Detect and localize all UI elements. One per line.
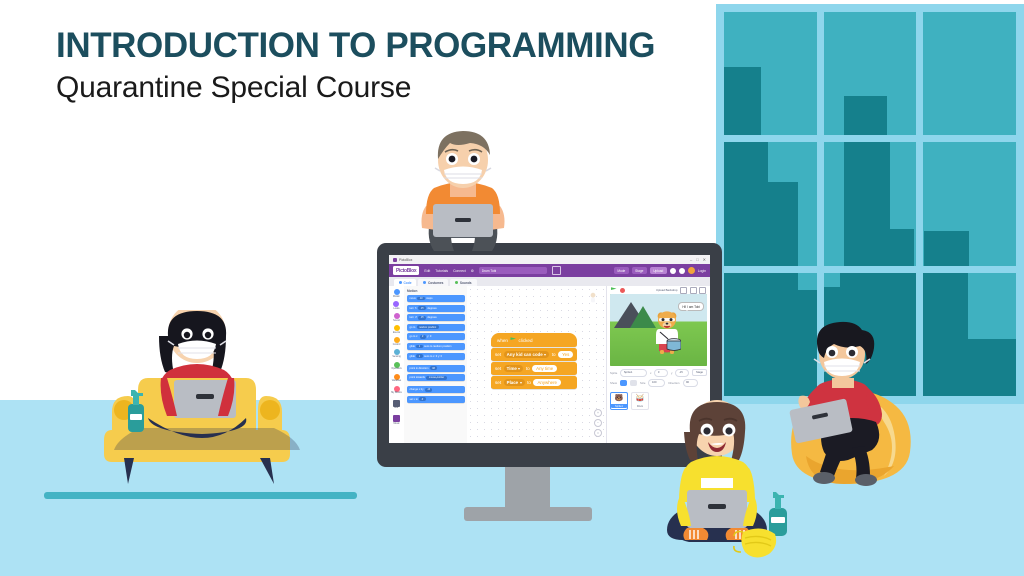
- ide-toolbar: PictoBlox Edit Tutorials Connect ⚙ Drum …: [389, 264, 710, 277]
- mode-button[interactable]: Mode: [614, 267, 629, 274]
- category-label: Sound: [393, 320, 400, 322]
- code-icon: [399, 281, 402, 284]
- green-flag-icon: [510, 337, 516, 343]
- block-pill[interactable]: 10: [417, 297, 424, 301]
- block-pill[interactable]: 0: [419, 397, 425, 401]
- block-pill[interactable]: 0: [420, 335, 426, 339]
- block-tail: steps: [426, 297, 432, 300]
- variable-name: Time: [507, 366, 517, 371]
- large-stage-icon[interactable]: [690, 287, 697, 294]
- window-pane: [923, 142, 1016, 265]
- category-events[interactable]: Events: [393, 325, 400, 334]
- script-stack[interactable]: when clicked set Any kid can code to Yes: [491, 333, 577, 390]
- value-input[interactable]: Any time: [532, 365, 557, 372]
- block-text: set x to: [410, 398, 418, 401]
- maximize-button[interactable]: □: [696, 258, 698, 262]
- category-label: Variables: [392, 380, 401, 382]
- tab-sounds[interactable]: Sounds: [450, 279, 476, 286]
- palette-block[interactable]: go torandom position: [407, 324, 465, 331]
- operators-icon: [394, 362, 400, 368]
- value-input[interactable]: Anywhere: [533, 379, 561, 386]
- small-stage-icon[interactable]: [680, 287, 687, 294]
- page-title: INTRODUCTION TO PROGRAMMING: [56, 26, 655, 65]
- new-project-icon[interactable]: [552, 266, 561, 275]
- music-icon: [393, 415, 400, 422]
- block-tail: secs to random position: [424, 345, 451, 348]
- watermark-sprite-icon: [589, 292, 597, 304]
- window-pane: [724, 142, 817, 265]
- sprite-info-panel: Sprite Sprite1 x 0 y -15 Stage Show: [610, 369, 707, 389]
- category-label: Add·: [394, 407, 399, 409]
- avatar[interactable]: [688, 267, 695, 274]
- category-motion[interactable]: Motion: [393, 289, 400, 298]
- set-variable-block[interactable]: set Place to Anywhere: [491, 376, 577, 389]
- pictoblox-logo[interactable]: PictoBlox: [393, 266, 419, 274]
- palette-block[interactable]: point in direction90: [407, 365, 465, 372]
- motion-icon: [394, 289, 400, 295]
- block-pill[interactable]: random position: [417, 325, 439, 329]
- set-variable-block[interactable]: set Time to Any time: [491, 362, 577, 375]
- category-addon[interactable]: Add·: [393, 398, 400, 410]
- value-input[interactable]: Yes: [558, 351, 573, 358]
- sound-icon: [394, 313, 400, 319]
- tobi-sprite[interactable]: [653, 308, 681, 354]
- palette-block[interactable]: move10steps: [407, 295, 465, 302]
- zoom-out-icon[interactable]: −: [594, 419, 602, 427]
- block-tail: secs to x: 0 y: 0: [424, 355, 442, 358]
- girl-on-sofa: [52, 310, 342, 500]
- my-blocks-icon: [394, 386, 400, 392]
- poster-canvas: INTRODUCTION TO PROGRAMMING Quarantine S…: [0, 0, 1024, 576]
- variable-dropdown[interactable]: Place: [504, 379, 525, 386]
- block-text: turn ↻: [410, 307, 417, 310]
- project-name-input[interactable]: Drum Tobi: [479, 267, 547, 274]
- tab-code[interactable]: Code: [394, 279, 416, 286]
- block-pill[interactable]: 15: [418, 316, 425, 320]
- control-icon: [394, 337, 400, 343]
- category-label: Events: [393, 332, 400, 334]
- block-connector: to: [527, 380, 531, 385]
- show-label: Show: [610, 381, 617, 385]
- block-text: point towards: [410, 376, 425, 379]
- menu-connect[interactable]: Connect: [453, 269, 466, 273]
- block-tail: y: 0: [427, 335, 431, 338]
- block-text: turn ↺: [410, 316, 417, 319]
- green-flag-icon[interactable]: [611, 287, 617, 293]
- sensing-icon: [394, 349, 400, 355]
- addon-icon: [393, 400, 400, 407]
- chevron-down-icon: [518, 368, 520, 370]
- window-pane: [824, 12, 917, 135]
- y-input[interactable]: -15: [675, 369, 689, 377]
- stage-selector-button[interactable]: Stage: [692, 369, 707, 376]
- block-tail: clicked: [518, 338, 532, 343]
- boy-on-beanbag: [780, 316, 925, 491]
- window-pane: [824, 142, 917, 265]
- minimize-button[interactable]: –: [690, 258, 692, 262]
- speech-bubble: Hi! I am Tobi: [678, 302, 704, 311]
- category-label: Motion: [393, 296, 400, 298]
- tab-sounds-label: Sounds: [460, 281, 472, 285]
- tab-code-label: Code: [404, 281, 412, 285]
- sprite-name-input[interactable]: Sprite1: [620, 369, 647, 377]
- gear-icon[interactable]: [670, 268, 676, 274]
- block-pill[interactable]: 1: [416, 345, 422, 349]
- block-pill[interactable]: 15: [418, 306, 425, 310]
- block-text: go to: [410, 326, 416, 329]
- monitor-neck: [505, 467, 550, 507]
- block-keyword: set: [495, 352, 501, 357]
- palette-heading: Motion: [407, 289, 465, 293]
- fullscreen-icon[interactable]: [699, 287, 706, 294]
- tab-costumes-label: Costumes: [428, 281, 443, 285]
- size-label: Size: [640, 381, 645, 385]
- category-sound[interactable]: Sound: [393, 313, 400, 322]
- block-text: move: [410, 297, 416, 300]
- sprite-card-label: Drum: [632, 404, 648, 408]
- events-icon: [394, 325, 400, 331]
- sprite-thumbnail-icon: 🐻: [611, 393, 627, 404]
- block-text: glide: [410, 345, 415, 348]
- category-looks[interactable]: Looks: [393, 301, 399, 310]
- stage-preview[interactable]: Hi! I am Tobi: [610, 294, 707, 366]
- block-tail: degrees: [427, 316, 436, 319]
- sprite-card-tobi[interactable]: 🐻 Sprite1: [610, 392, 628, 410]
- stop-icon[interactable]: [620, 288, 625, 293]
- variable-name: Any kid can code: [507, 352, 543, 357]
- face-mask-floor: [733, 524, 781, 558]
- category-label: Sensing: [392, 356, 400, 358]
- block-keyword: set: [495, 366, 501, 371]
- ide-tabs: Code Costumes Sounds: [389, 277, 710, 286]
- variable-dropdown[interactable]: Any kid can code: [504, 351, 550, 358]
- variables-icon: [394, 374, 400, 380]
- sprite-label: Sprite: [610, 371, 617, 375]
- block-text: glide: [410, 355, 415, 358]
- close-button[interactable]: ✕: [703, 258, 706, 262]
- costumes-icon: [423, 281, 426, 284]
- boy-on-monitor: [400, 126, 526, 256]
- drum-thumbnail-icon: 🥁: [632, 393, 648, 404]
- chevron-down-icon: [544, 354, 546, 356]
- palette-block[interactable]: glide1secs to random position: [407, 343, 465, 350]
- category-label: Looks: [393, 308, 399, 310]
- x-label: x: [650, 371, 651, 375]
- window-pane: [923, 12, 1016, 135]
- connect-icon[interactable]: ⚙: [471, 269, 474, 273]
- block-text: point in direction: [410, 367, 429, 370]
- category-label: Operators: [391, 368, 401, 370]
- category-my-blocks[interactable]: My Blocks: [391, 386, 401, 395]
- size-input[interactable]: 100: [648, 379, 665, 387]
- app-name: PictoBlox: [399, 258, 412, 262]
- category-music[interactable]: Music: [393, 413, 400, 425]
- zoom-in-icon[interactable]: +: [594, 409, 602, 417]
- category-label: Control: [393, 344, 400, 346]
- when-flag-clicked-block[interactable]: when clicked: [491, 333, 577, 347]
- category-label: My Blocks: [391, 392, 401, 394]
- direction-label: Direction: [668, 381, 679, 385]
- palette-block[interactable]: set x to0: [407, 396, 465, 403]
- script-canvas[interactable]: when clicked set Any kid can code to Yes: [467, 286, 606, 443]
- block-pill[interactable]: mouse-pointer: [426, 376, 446, 380]
- set-variable-block[interactable]: set Any kid can code to Yes: [491, 348, 577, 361]
- block-text: change x by: [410, 388, 424, 391]
- block-text: go to x:: [410, 335, 419, 338]
- sprite-card-label: Sprite1: [611, 404, 627, 408]
- sprite-card-drum[interactable]: 🥁 Drum: [631, 392, 649, 410]
- palette-block[interactable]: change x by10: [407, 386, 465, 393]
- show-off-toggle[interactable]: [630, 380, 637, 386]
- block-tail: degrees: [427, 307, 436, 310]
- login-label[interactable]: Login: [698, 269, 706, 273]
- upload-button[interactable]: Upload: [650, 267, 667, 274]
- menu-edit[interactable]: Edit: [424, 269, 430, 273]
- block-pill[interactable]: 1: [416, 354, 422, 358]
- sounds-icon: [455, 281, 458, 284]
- globe-icon[interactable]: [679, 268, 685, 274]
- app-logo-icon: [393, 258, 397, 262]
- ide-titlebar: PictoBlox – □ ✕: [389, 255, 710, 264]
- block-keyword: when: [497, 338, 508, 343]
- palette-block[interactable]: glide1secs to x: 0 y: 0: [407, 353, 465, 360]
- monitor-base: [464, 507, 592, 521]
- palette-block[interactable]: point towardsmouse-pointer: [407, 374, 465, 381]
- stage-button[interactable]: Stage: [632, 267, 647, 274]
- upload-backdrop-label[interactable]: Upload Backdrop: [656, 288, 677, 292]
- direction-input[interactable]: 90: [683, 379, 698, 387]
- variable-dropdown[interactable]: Time: [504, 365, 524, 372]
- category-column: Motion Looks Sound Events Control Sensin…: [389, 286, 404, 443]
- block-palette[interactable]: Motion move10steps turn ↻15degrees turn …: [404, 286, 467, 443]
- palette-block[interactable]: turn ↺15degrees: [407, 314, 465, 321]
- page-subtitle: Quarantine Special Course: [56, 71, 655, 105]
- variable-name: Place: [507, 380, 518, 385]
- window-pane: [724, 12, 817, 135]
- block-keyword: set: [495, 380, 501, 385]
- block-connector: to: [526, 366, 530, 371]
- category-sensing[interactable]: Sensing: [392, 349, 400, 358]
- menu-tutorials[interactable]: Tutorials: [435, 269, 448, 273]
- palette-block[interactable]: go to x:0y: 0: [407, 333, 465, 340]
- canvas-zoom-controls[interactable]: + − =: [594, 409, 602, 437]
- palette-block[interactable]: turn ↻15degrees: [407, 305, 465, 312]
- zoom-reset-icon[interactable]: =: [594, 429, 602, 437]
- block-pill[interactable]: 90: [430, 366, 437, 370]
- window-pane: [923, 273, 1016, 396]
- y-label: y: [671, 371, 672, 375]
- category-variables[interactable]: Variables: [392, 374, 401, 383]
- x-input[interactable]: 0: [654, 369, 668, 377]
- block-connector: to: [552, 352, 556, 357]
- title-block: INTRODUCTION TO PROGRAMMING Quarantine S…: [56, 26, 655, 105]
- looks-icon: [393, 301, 399, 307]
- chevron-down-icon: [520, 382, 522, 384]
- category-label: Music: [394, 423, 400, 425]
- category-operators[interactable]: Operators: [391, 362, 401, 371]
- tab-costumes[interactable]: Costumes: [418, 279, 448, 286]
- category-control[interactable]: Control: [393, 337, 400, 346]
- block-pill[interactable]: 10: [425, 388, 432, 392]
- show-on-toggle[interactable]: [620, 380, 627, 386]
- stage-controls: Upload Backdrop: [607, 286, 710, 294]
